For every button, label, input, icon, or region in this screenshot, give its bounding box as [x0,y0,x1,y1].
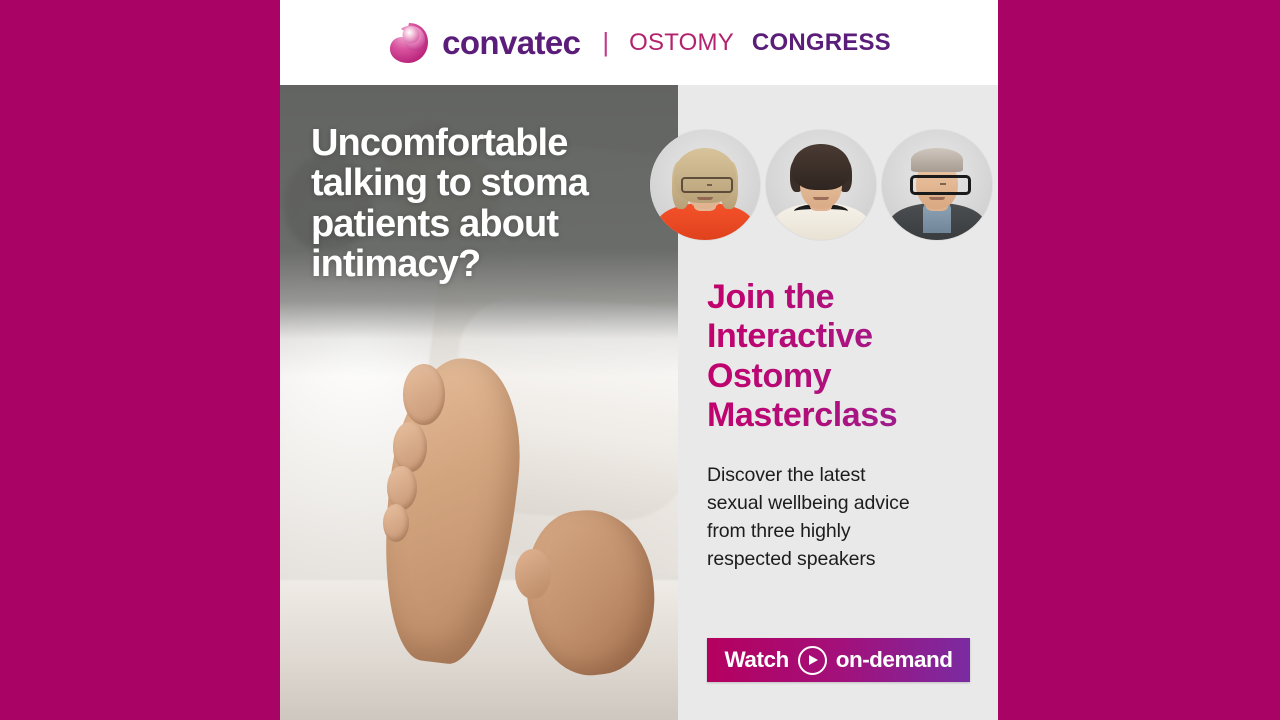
watch-on-demand-button[interactable]: Watch on-demand [707,638,970,682]
info-panel: Join the Interactive Ostomy Masterclass … [678,85,998,720]
ad-banner: convatec | OSTOMY CONGRESS [0,0,1280,720]
info-title: Join the Interactive Ostomy Masterclass [707,278,977,436]
ad-card: convatec | OSTOMY CONGRESS [280,0,998,720]
brand-lockup: convatec | OSTOMY CONGRESS [387,20,891,66]
brand-separator: | [602,29,609,55]
cta-label-before: Watch [725,649,789,672]
brand-name: convatec [442,26,580,59]
avatar-speaker-2 [766,130,876,240]
avatar-speaker-1 [650,130,760,240]
avatar-speaker-3 [882,130,992,240]
play-circle-icon [798,646,827,675]
speaker-avatars [650,130,992,240]
content-row: Uncomfortable talking to stoma patients … [280,85,998,720]
brand-subtitle-congress: CONGRESS [752,31,891,55]
hero-headline: Uncomfortable talking to stoma patients … [311,123,651,284]
brand-subtitle-ostomy: OSTOMY [629,31,734,55]
info-body: Discover the latest sexual wellbeing adv… [707,461,979,573]
convatec-spiral-logo-icon [387,20,431,66]
cta-label-after: on-demand [836,649,953,672]
hero-image: Uncomfortable talking to stoma patients … [280,85,678,720]
brand-header: convatec | OSTOMY CONGRESS [280,0,998,85]
